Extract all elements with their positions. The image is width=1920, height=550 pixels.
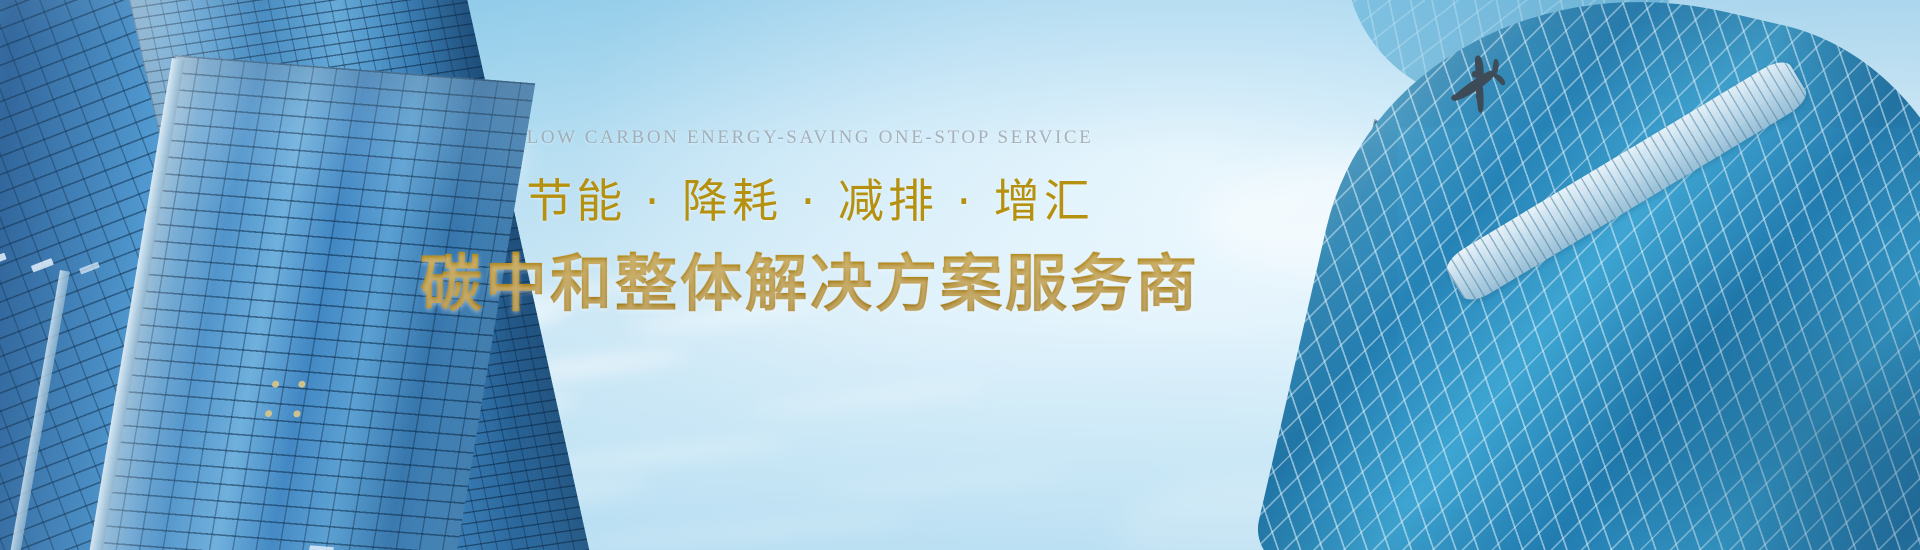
cloud-haze-right bbox=[1160, 40, 1920, 400]
hero-text-block: LOW CARBON ENERGY-SAVING ONE-STOP SERVIC… bbox=[0, 128, 1620, 322]
hero-subtitle: 节能 · 降耗 · 减排 · 增汇 bbox=[0, 173, 1620, 229]
building-mullion-fin-secondary bbox=[8, 270, 70, 550]
building-angular-tower bbox=[1292, 119, 1590, 550]
hero-banner: LOW CARBON ENERGY-SAVING ONE-STOP SERVIC… bbox=[0, 0, 1920, 550]
building-left-slab bbox=[0, 0, 538, 550]
edge-vignette bbox=[0, 0, 1920, 550]
building-background-slab bbox=[203, 0, 506, 350]
cloud-cumulus-top bbox=[40, 0, 660, 230]
airplane-icon bbox=[1429, 41, 1527, 132]
sky-gradient-overlay bbox=[0, 0, 1920, 550]
building-foreground-tower bbox=[61, 55, 535, 550]
sky-bottom-haze bbox=[0, 320, 1920, 550]
building-curved-glass-tower bbox=[1250, 0, 1920, 550]
building-roof-cap bbox=[1351, 159, 1592, 230]
hero-headline: 碳中和整体解决方案服务商 bbox=[0, 247, 1620, 321]
building-mid-tower bbox=[121, 0, 613, 550]
cloud-bottom-right bbox=[1100, 420, 1620, 550]
cloud-wisps-lower bbox=[330, 280, 1230, 550]
right-building-cluster bbox=[1180, 0, 1920, 550]
hero-eyebrow-tagline: LOW CARBON ENERGY-SAVING ONE-STOP SERVIC… bbox=[0, 128, 1620, 147]
building-mullion-fin bbox=[56, 58, 184, 550]
left-building-cluster bbox=[0, 0, 560, 550]
